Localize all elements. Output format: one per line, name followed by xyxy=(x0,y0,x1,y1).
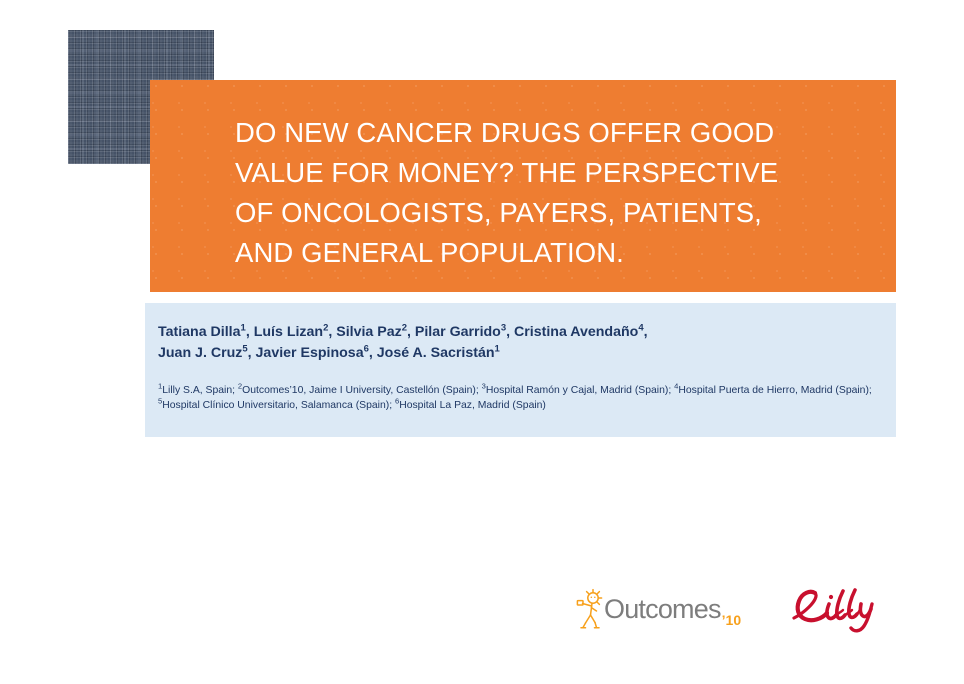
title-line-1: DO NEW CANCER DRUGS OFFER GOOD xyxy=(235,113,855,153)
page-title: DO NEW CANCER DRUGS OFFER GOOD VALUE FOR… xyxy=(235,113,855,273)
lilly-logo xyxy=(785,584,889,634)
author-line-2: Juan J. Cruz5, Javier Espinosa6, José A.… xyxy=(158,343,883,364)
outcomes-wordmark: Outcomes xyxy=(604,596,721,623)
title-banner: DO NEW CANCER DRUGS OFFER GOOD VALUE FOR… xyxy=(150,80,896,292)
outcomes-superscript: ’10 xyxy=(722,613,741,632)
outcomes-logo: Outcomes ’10 xyxy=(575,586,741,632)
title-line-3: OF ONCOLOGISTS, PAYERS, PATIENTS, xyxy=(235,193,855,233)
author-panel: Tatiana Dilla1, Luís Lizan2, Silvia Paz2… xyxy=(145,303,896,437)
outcomes-stick-figure-icon xyxy=(575,588,605,630)
logo-row: Outcomes ’10 xyxy=(575,583,889,635)
author-line-1: Tatiana Dilla1, Luís Lizan2, Silvia Paz2… xyxy=(158,322,883,343)
affiliation-list: 1Lilly S.A, Spain; 2Outcomes’10, Jaime I… xyxy=(158,383,885,413)
title-line-2: VALUE FOR MONEY? THE PERSPECTIVE xyxy=(235,153,855,193)
author-list: Tatiana Dilla1, Luís Lizan2, Silvia Paz2… xyxy=(158,322,883,364)
title-line-4: AND GENERAL POPULATION. xyxy=(235,233,855,273)
poster-title-slide: DO NEW CANCER DRUGS OFFER GOOD VALUE FOR… xyxy=(0,0,964,684)
